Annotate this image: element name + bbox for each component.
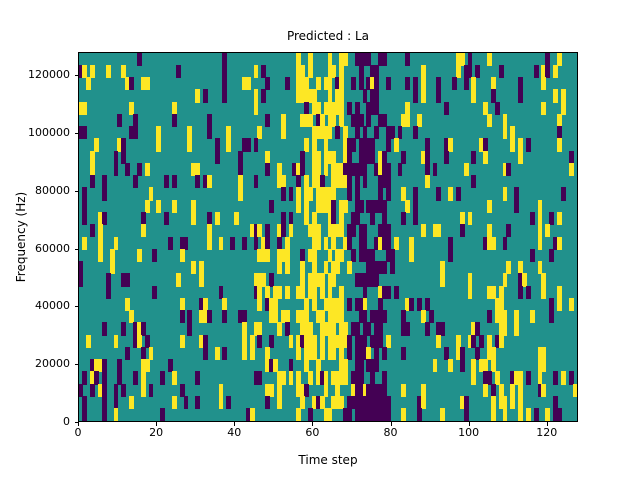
x-tick-label: 120: [517, 427, 577, 439]
x-tick-label: 40: [204, 427, 264, 439]
x-tick-mark: [469, 422, 470, 426]
matplotlib-figure: Predicted : La Frequency (Hz) 0200004000…: [0, 0, 640, 480]
x-tick-mark: [234, 422, 235, 426]
x-tick-mark: [547, 422, 548, 426]
x-tick-label: 80: [361, 427, 421, 439]
x-tick-mark: [156, 422, 157, 426]
y-tick-label: 80000: [6, 185, 70, 197]
y-tick-label: 60000: [6, 243, 70, 255]
x-tick-label: 0: [48, 427, 108, 439]
heatmap-plot-area: [78, 52, 578, 422]
x-tick-label: 20: [126, 427, 186, 439]
x-axis-label: Time step: [78, 453, 578, 467]
heatmap-grid: [79, 53, 577, 421]
x-tick-mark: [391, 422, 392, 426]
y-tick-label: 120000: [6, 69, 70, 81]
y-tick-label: 40000: [6, 300, 70, 312]
x-tick-mark: [78, 422, 79, 426]
x-tick-label: 60: [282, 427, 342, 439]
x-tick-mark: [312, 422, 313, 426]
y-tick-label: 20000: [6, 358, 70, 370]
x-tick-label: 100: [439, 427, 499, 439]
y-tick-label: 100000: [6, 127, 70, 139]
page-title: Predicted : La: [78, 29, 578, 43]
